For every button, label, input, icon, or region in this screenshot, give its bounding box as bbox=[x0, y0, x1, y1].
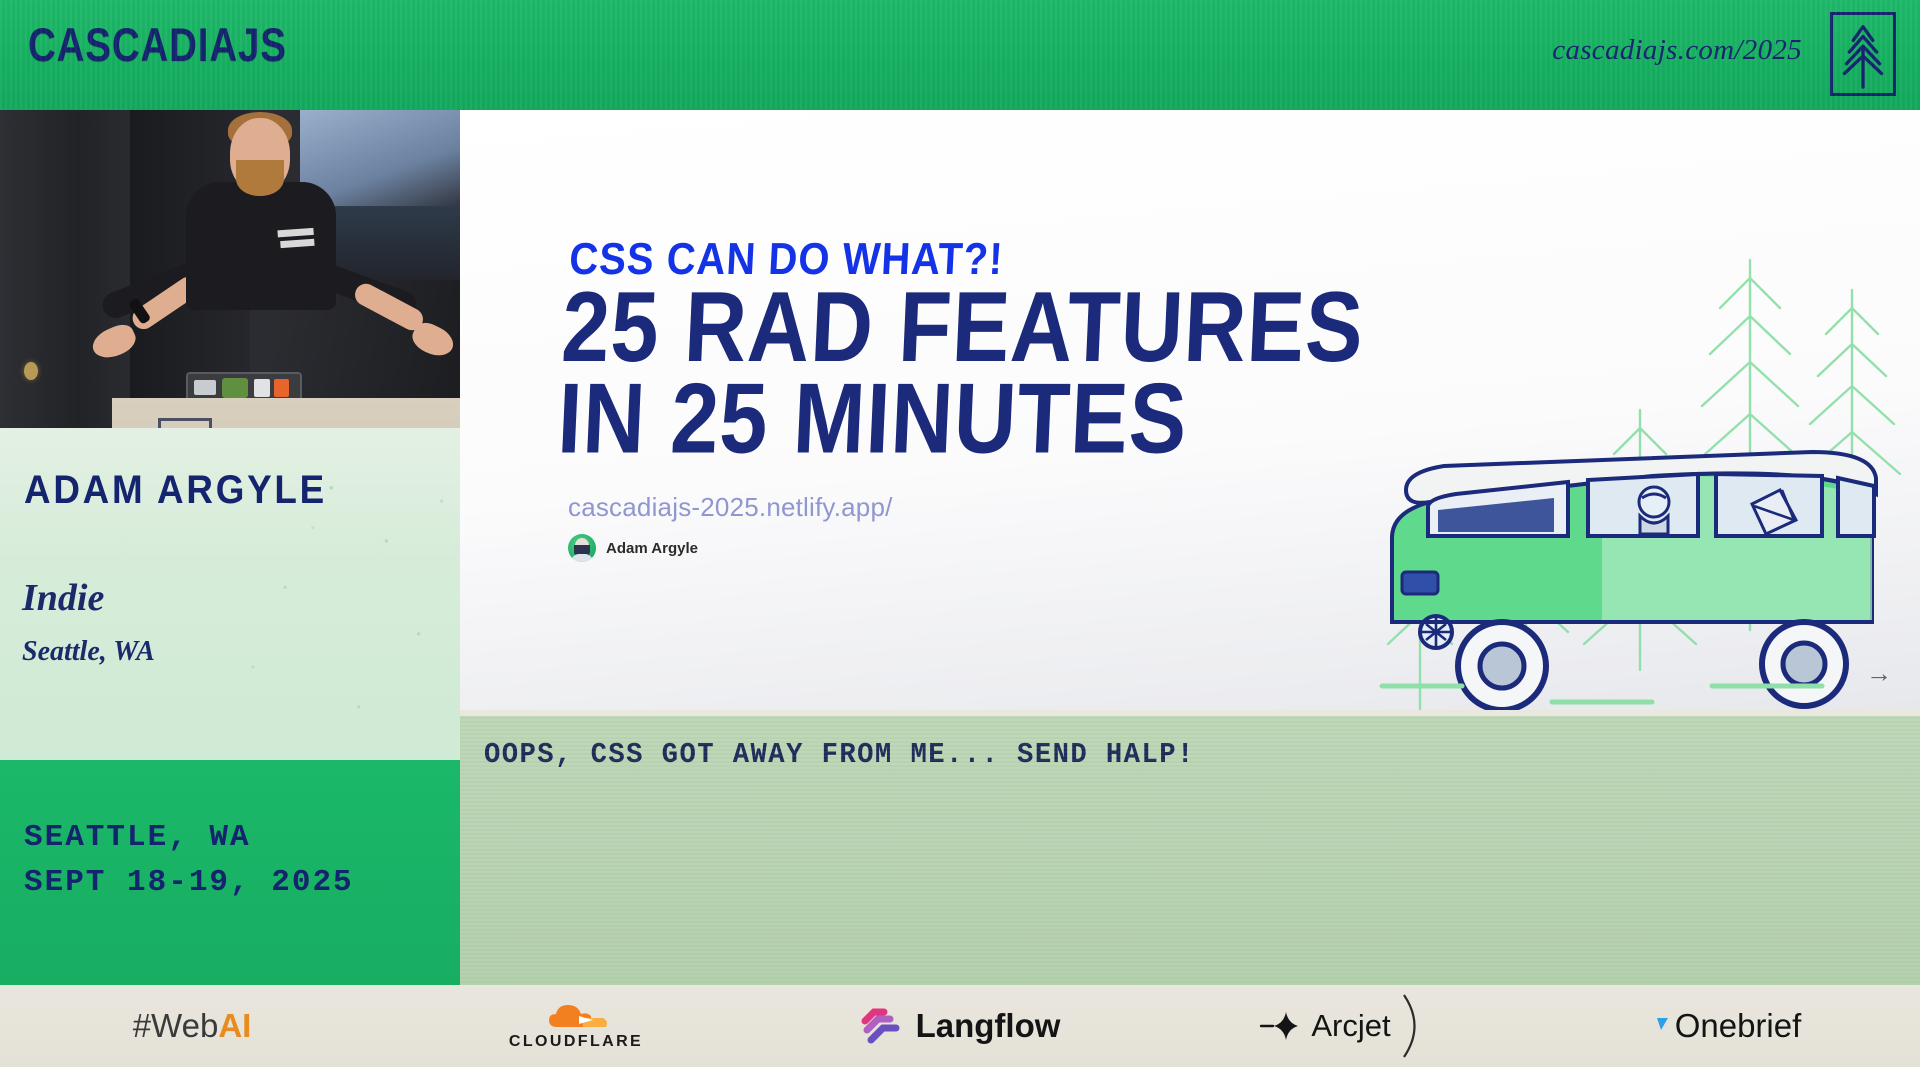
arcjet-spark-icon bbox=[1259, 1009, 1303, 1043]
slide-headline-line-1: 25 RAD FEATURES bbox=[560, 282, 1464, 374]
slide-headline-line-2: IN 25 MINUTES bbox=[556, 374, 1460, 466]
speaker-affiliation: Indie bbox=[22, 576, 104, 620]
laptop-sticker bbox=[222, 378, 248, 398]
pine-tree-icon bbox=[1830, 12, 1896, 96]
sponsor-arcjet[interactable]: Arcjet bbox=[1152, 985, 1536, 1067]
speaker-info-card: ADAM ARGYLE Indie Seattle, WA bbox=[0, 428, 460, 760]
event-dates: SEPT 18-19, 2025 bbox=[24, 865, 354, 900]
sponsor-webai-prefix: #Web bbox=[133, 1007, 219, 1044]
avatar bbox=[568, 534, 596, 562]
broadcast-stage: CASCADIAJS cascadiajs.com/2025 bbox=[0, 0, 1920, 1067]
sponsor-langflow[interactable]: Langflow bbox=[768, 985, 1152, 1067]
event-url: cascadiajs.com/2025 bbox=[1552, 34, 1802, 67]
sponsor-webai-accent: AI bbox=[218, 1007, 251, 1044]
speaker-beard bbox=[236, 160, 284, 196]
slide-url[interactable]: cascadiajs-2025.netlify.app/ bbox=[568, 492, 893, 523]
slide-author-name: Adam Argyle bbox=[606, 540, 698, 557]
speaker-panel: CASCADIAJS ADAM ARGYLE Indie Seattle, WA… bbox=[0, 110, 460, 985]
speaker-shirt-logo bbox=[277, 225, 317, 252]
event-details-card: SEATTLE, WA SEPT 18-19, 2025 bbox=[0, 760, 460, 995]
langflow-icon bbox=[860, 1006, 904, 1046]
live-caption-bar: OOPS, CSS GOT AWAY FROM ME... SEND HALP! bbox=[460, 716, 1920, 985]
pine-tree-icon bbox=[158, 418, 212, 428]
sponsor-langflow-label: Langflow bbox=[916, 1007, 1061, 1045]
sponsor-arcjet-label: Arcjet bbox=[1311, 1008, 1390, 1044]
presentation-slide[interactable]: CSS CAN DO WHAT?! 25 RAD FEATURES IN 25 … bbox=[460, 110, 1920, 710]
sponsor-footer: #WebAI CLOUDFLARE bbox=[0, 985, 1920, 1067]
door-knob bbox=[24, 362, 38, 380]
speaker-name: ADAM ARGYLE bbox=[24, 468, 327, 513]
sponsor-webai[interactable]: #WebAI bbox=[0, 985, 384, 1067]
laptop-sticker bbox=[254, 379, 270, 397]
slide-author-byline: Adam Argyle bbox=[568, 534, 698, 562]
arcjet-arc-icon bbox=[1399, 991, 1429, 1061]
laptop-sticker bbox=[194, 380, 216, 395]
event-city: SEATTLE, WA bbox=[24, 820, 251, 855]
onebrief-flag-icon bbox=[1655, 1014, 1671, 1038]
caption-text: OOPS, CSS GOT AWAY FROM ME... SEND HALP! bbox=[484, 738, 1195, 771]
podium: CASCADIAJS bbox=[112, 398, 460, 428]
sponsor-webai-label: #WebAI bbox=[133, 1007, 252, 1045]
sponsor-cloudflare-label: CLOUDFLARE bbox=[509, 1033, 643, 1051]
event-brand-title: CASCADIAJS bbox=[28, 17, 287, 72]
speaker-location: Seattle, WA bbox=[22, 636, 155, 668]
event-header: CASCADIAJS cascadiajs.com/2025 bbox=[0, 0, 1920, 110]
sponsor-onebrief-label: Onebrief bbox=[1675, 1007, 1802, 1045]
speaker-camera-feed: CASCADIAJS bbox=[0, 110, 460, 428]
cloudflare-icon bbox=[543, 1001, 609, 1031]
sponsor-cloudflare[interactable]: CLOUDFLARE bbox=[384, 985, 768, 1067]
slide-headline: 25 RAD FEATURES IN 25 MINUTES bbox=[556, 282, 1464, 466]
next-slide-arrow-icon[interactable]: → bbox=[1862, 660, 1896, 686]
laptop-sticker bbox=[274, 379, 289, 397]
sponsor-onebrief[interactable]: Onebrief bbox=[1536, 985, 1920, 1067]
stage-wall-left bbox=[0, 110, 130, 428]
